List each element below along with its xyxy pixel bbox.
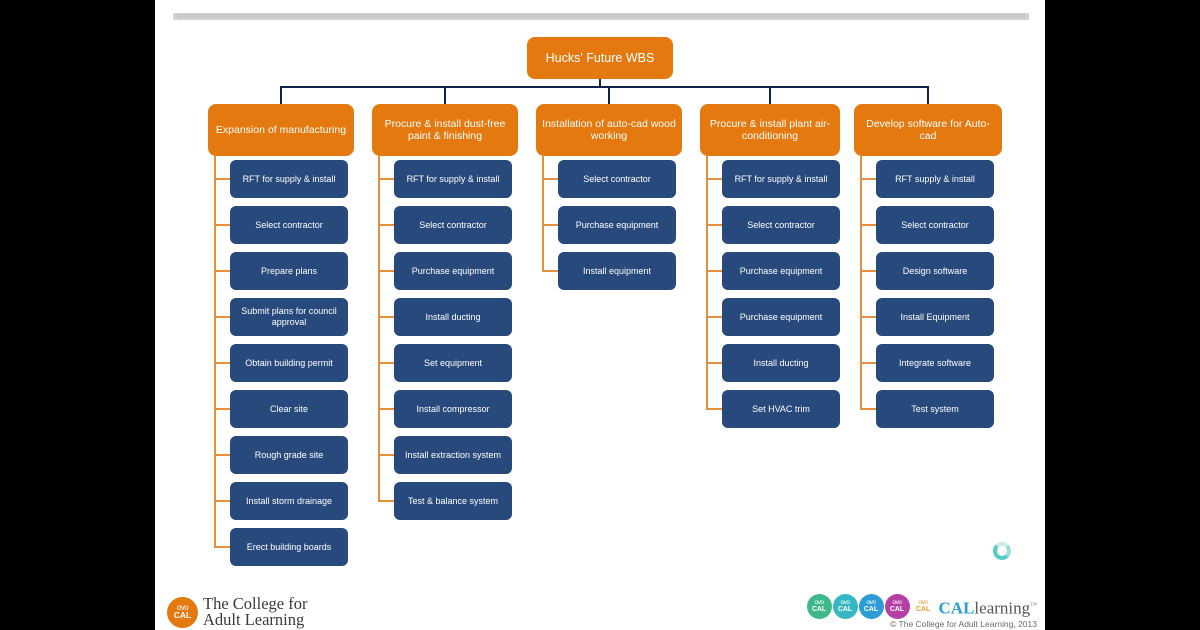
task-stub-connector-2-2 — [378, 224, 394, 226]
wbs-task-node-3-2[interactable]: Purchase equipment — [558, 206, 676, 244]
task-stub-connector-3-2 — [542, 224, 558, 226]
wbs-task-node-4-5-label: Install ducting — [753, 358, 808, 369]
wbs-task-node-1-9[interactable]: Erect building boards — [230, 528, 348, 566]
cal-badge-blue: ᴏᴠᴏ CAL — [859, 594, 884, 619]
wbs-task-node-1-6[interactable]: Clear site — [230, 390, 348, 428]
wbs-task-node-5-5-label: Integrate software — [899, 358, 971, 369]
task-stub-connector-5-6 — [860, 408, 876, 410]
wbs-task-node-1-3-label: Prepare plans — [261, 266, 317, 277]
wbs-task-node-1-4[interactable]: Submit plans for council approval — [230, 298, 348, 336]
wbs-branch-node-4-label: Procure & install plant air-conditioning — [705, 118, 835, 143]
branch-spine-connector-1 — [214, 156, 216, 547]
branch-drop-connector-3 — [608, 86, 610, 104]
wbs-task-node-5-3[interactable]: Design software — [876, 252, 994, 290]
wbs-task-node-1-8-label: Install storm drainage — [246, 496, 332, 507]
wbs-task-node-5-4-label: Install Equipment — [900, 312, 969, 323]
wbs-task-node-4-2-label: Select contractor — [747, 220, 815, 231]
wbs-task-node-4-6-label: Set HVAC trim — [752, 404, 810, 415]
task-stub-connector-4-2 — [706, 224, 722, 226]
wbs-task-node-3-1-label: Select contractor — [583, 174, 651, 185]
wbs-task-node-5-4[interactable]: Install Equipment — [876, 298, 994, 336]
branch-bus-connector — [281, 86, 928, 88]
task-stub-connector-1-3 — [214, 270, 230, 272]
task-stub-connector-5-5 — [860, 362, 876, 364]
branch-drop-connector-4 — [769, 86, 771, 104]
wbs-task-node-1-2[interactable]: Select contractor — [230, 206, 348, 244]
wbs-task-node-5-6[interactable]: Test system — [876, 390, 994, 428]
task-stub-connector-3-1 — [542, 178, 558, 180]
college-logo-title: The College for Adult Learning — [203, 596, 307, 628]
wbs-branch-node-2[interactable]: Procure & install dust-free paint & fini… — [372, 104, 518, 156]
wbs-task-node-3-2-label: Purchase equipment — [576, 220, 659, 231]
wbs-branch-node-5[interactable]: Develop software for Auto-cad — [854, 104, 1002, 156]
cal-badge-outline: ᴏᴠᴏ CAL — [911, 594, 936, 619]
wbs-task-node-3-1[interactable]: Select contractor — [558, 160, 676, 198]
wbs-task-node-1-4-label: Submit plans for council approval — [235, 306, 343, 327]
wbs-task-node-2-1-label: RFT for supply & install — [407, 174, 500, 185]
wbs-task-node-1-6-label: Clear site — [270, 404, 308, 415]
task-stub-connector-5-3 — [860, 270, 876, 272]
wbs-task-node-2-7[interactable]: Install extraction system — [394, 436, 512, 474]
wbs-task-node-2-3[interactable]: Purchase equipment — [394, 252, 512, 290]
trademark-symbol: ™ — [1030, 601, 1037, 609]
task-stub-connector-1-4 — [214, 316, 230, 318]
wbs-task-node-4-1-label: RFT for supply & install — [735, 174, 828, 185]
wbs-branch-node-4[interactable]: Procure & install plant air-conditioning — [700, 104, 840, 156]
wbs-task-node-5-1-label: RFT supply & install — [895, 174, 975, 185]
cal-badge-text: CAL — [812, 606, 826, 614]
wbs-task-node-4-5[interactable]: Install ducting — [722, 344, 840, 382]
wbs-task-node-2-5[interactable]: Set equipment — [394, 344, 512, 382]
wbs-task-node-4-6[interactable]: Set HVAC trim — [722, 390, 840, 428]
root-stem-connector — [599, 79, 601, 86]
wbs-task-node-5-2[interactable]: Select contractor — [876, 206, 994, 244]
task-stub-connector-1-9 — [214, 546, 230, 548]
cal-badge-green: ᴏᴠᴏ CAL — [807, 594, 832, 619]
wbs-branch-node-3-label: Installation of auto-cad wood working — [541, 118, 677, 143]
task-stub-connector-4-5 — [706, 362, 722, 364]
wbs-task-node-4-2[interactable]: Select contractor — [722, 206, 840, 244]
task-stub-connector-1-7 — [214, 454, 230, 456]
wbs-task-node-1-7-label: Rough grade site — [255, 450, 324, 461]
branch-spine-connector-2 — [378, 156, 380, 501]
cal-badge-purple: ᴏᴠᴏ CAL — [885, 594, 910, 619]
callearning-learning: learning — [974, 598, 1030, 617]
wbs-task-node-2-8[interactable]: Test & balance system — [394, 482, 512, 520]
wbs-task-node-2-7-label: Install extraction system — [405, 450, 501, 461]
wbs-task-node-5-6-label: Test system — [911, 404, 959, 415]
college-logo: ᴏᴠᴏ CAL The College for Adult Learning — [167, 596, 307, 628]
wbs-task-node-1-2-label: Select contractor — [255, 220, 323, 231]
wbs-task-node-1-3[interactable]: Prepare plans — [230, 252, 348, 290]
wbs-branch-node-2-label: Procure & install dust-free paint & fini… — [377, 118, 513, 143]
wbs-task-node-3-3[interactable]: Install equipment — [558, 252, 676, 290]
letterbox-left — [0, 0, 155, 630]
wbs-task-node-1-7[interactable]: Rough grade site — [230, 436, 348, 474]
callearning-wordmark: CALlearning™ — [939, 596, 1037, 618]
wbs-task-node-5-3-label: Design software — [903, 266, 968, 277]
wbs-task-node-2-8-label: Test & balance system — [408, 496, 498, 507]
task-stub-connector-4-3 — [706, 270, 722, 272]
wbs-branch-node-1-label: Expansion of manufacturing — [216, 124, 346, 136]
task-stub-connector-5-1 — [860, 178, 876, 180]
wbs-task-node-4-3-label: Purchase equipment — [740, 266, 823, 277]
cal-badge-text: CAL — [890, 606, 904, 614]
wbs-task-node-1-9-label: Erect building boards — [247, 542, 332, 553]
branch-drop-connector-1 — [280, 86, 282, 104]
wbs-diagram: Hucks' Future WBSExpansion of manufactur… — [155, 0, 1045, 630]
task-stub-connector-2-8 — [378, 500, 394, 502]
task-stub-connector-2-7 — [378, 454, 394, 456]
task-stub-connector-5-2 — [860, 224, 876, 226]
task-stub-connector-2-3 — [378, 270, 394, 272]
task-stub-connector-1-1 — [214, 178, 230, 180]
wbs-task-node-1-5-label: Obtain building permit — [245, 358, 333, 369]
wbs-task-node-2-6-label: Install compressor — [416, 404, 489, 415]
letterbox-right — [1045, 0, 1200, 630]
cal-badge-text: CAL — [916, 606, 930, 614]
wbs-task-node-2-3-label: Purchase equipment — [412, 266, 495, 277]
wbs-root-node-label: Hucks' Future WBS — [546, 51, 655, 66]
wbs-task-node-3-3-label: Install equipment — [583, 266, 651, 277]
wbs-task-node-2-2[interactable]: Select contractor — [394, 206, 512, 244]
wbs-task-node-2-1[interactable]: RFT for supply & install — [394, 160, 512, 198]
branch-drop-connector-5 — [927, 86, 929, 104]
task-stub-connector-4-6 — [706, 408, 722, 410]
task-stub-connector-2-6 — [378, 408, 394, 410]
loading-spinner-icon — [993, 542, 1011, 560]
task-stub-connector-1-5 — [214, 362, 230, 364]
task-stub-connector-2-5 — [378, 362, 394, 364]
cal-badge-text: CAL — [838, 606, 852, 614]
task-stub-connector-5-4 — [860, 316, 876, 318]
callearning-cal: CAL — [939, 598, 975, 617]
slide-canvas: Hucks' Future WBSExpansion of manufactur… — [155, 0, 1045, 630]
wbs-task-node-4-4[interactable]: Purchase equipment — [722, 298, 840, 336]
cal-badge-text: CAL — [864, 606, 878, 614]
cal-badge-teal: ᴏᴠᴏ CAL — [833, 594, 858, 619]
wbs-task-node-1-8[interactable]: Install storm drainage — [230, 482, 348, 520]
wbs-root-node[interactable]: Hucks' Future WBS — [527, 37, 673, 79]
task-stub-connector-4-4 — [706, 316, 722, 318]
callearning-badge-row: ᴏᴠᴏ CAL ᴏᴠᴏ CAL ᴏᴠᴏ CAL ᴏᴠᴏ CAL ᴏᴠᴏ CAL … — [807, 594, 1037, 619]
task-stub-connector-1-2 — [214, 224, 230, 226]
callearning-footer: ᴏᴠᴏ CAL ᴏᴠᴏ CAL ᴏᴠᴏ CAL ᴏᴠᴏ CAL ᴏᴠᴏ CAL … — [807, 594, 1037, 629]
wbs-task-node-4-3[interactable]: Purchase equipment — [722, 252, 840, 290]
branch-drop-connector-2 — [444, 86, 446, 104]
wbs-task-node-2-6[interactable]: Install compressor — [394, 390, 512, 428]
wbs-branch-node-3[interactable]: Installation of auto-cad wood working — [536, 104, 682, 156]
copyright-text: © The College for Adult Learning, 2013 — [807, 619, 1037, 629]
wbs-task-node-5-2-label: Select contractor — [901, 220, 969, 231]
wbs-task-node-4-1[interactable]: RFT for supply & install — [722, 160, 840, 198]
cal-logo-badge: ᴏᴠᴏ CAL — [167, 597, 198, 628]
wbs-task-node-2-4[interactable]: Install ducting — [394, 298, 512, 336]
task-stub-connector-4-1 — [706, 178, 722, 180]
task-stub-connector-2-4 — [378, 316, 394, 318]
wbs-branch-node-1[interactable]: Expansion of manufacturing — [208, 104, 354, 156]
task-stub-connector-1-8 — [214, 500, 230, 502]
branch-spine-connector-3 — [542, 156, 544, 271]
wbs-task-node-2-2-label: Select contractor — [419, 220, 487, 231]
branch-spine-connector-4 — [706, 156, 708, 409]
wbs-task-node-1-1[interactable]: RFT for supply & install — [230, 160, 348, 198]
wbs-task-node-1-5[interactable]: Obtain building permit — [230, 344, 348, 382]
wbs-task-node-4-4-label: Purchase equipment — [740, 312, 823, 323]
wbs-task-node-2-4-label: Install ducting — [425, 312, 480, 323]
wbs-branch-node-5-label: Develop software for Auto-cad — [859, 118, 997, 143]
wbs-task-node-5-5[interactable]: Integrate software — [876, 344, 994, 382]
task-stub-connector-1-6 — [214, 408, 230, 410]
wbs-task-node-2-5-label: Set equipment — [424, 358, 482, 369]
wbs-task-node-1-1-label: RFT for supply & install — [243, 174, 336, 185]
cal-logo-text: CAL — [174, 611, 191, 620]
wbs-task-node-5-1[interactable]: RFT supply & install — [876, 160, 994, 198]
task-stub-connector-3-3 — [542, 270, 558, 272]
task-stub-connector-2-1 — [378, 178, 394, 180]
branch-spine-connector-5 — [860, 156, 862, 409]
